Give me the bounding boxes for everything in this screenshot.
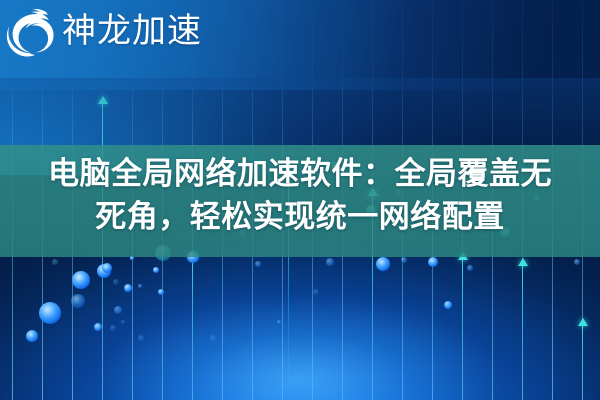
headline-line-1: 电脑全局网络加速软件：全局覆盖无 (0, 152, 600, 195)
promo-banner: 神龙加速 电脑全局网络加速软件：全局覆盖无 死角，轻松实现统一网络配置 (0, 0, 600, 400)
header-banner-fade (0, 78, 600, 148)
brand-name: 神龙加速 (62, 14, 202, 48)
headline-text: 电脑全局网络加速软件：全局覆盖无 死角，轻松实现统一网络配置 (0, 152, 600, 238)
headline-line-2: 死角，轻松实现统一网络配置 (0, 195, 600, 238)
brand-logo[interactable]: 神龙加速 (0, 0, 202, 62)
dragon-ring-icon (0, 2, 58, 60)
